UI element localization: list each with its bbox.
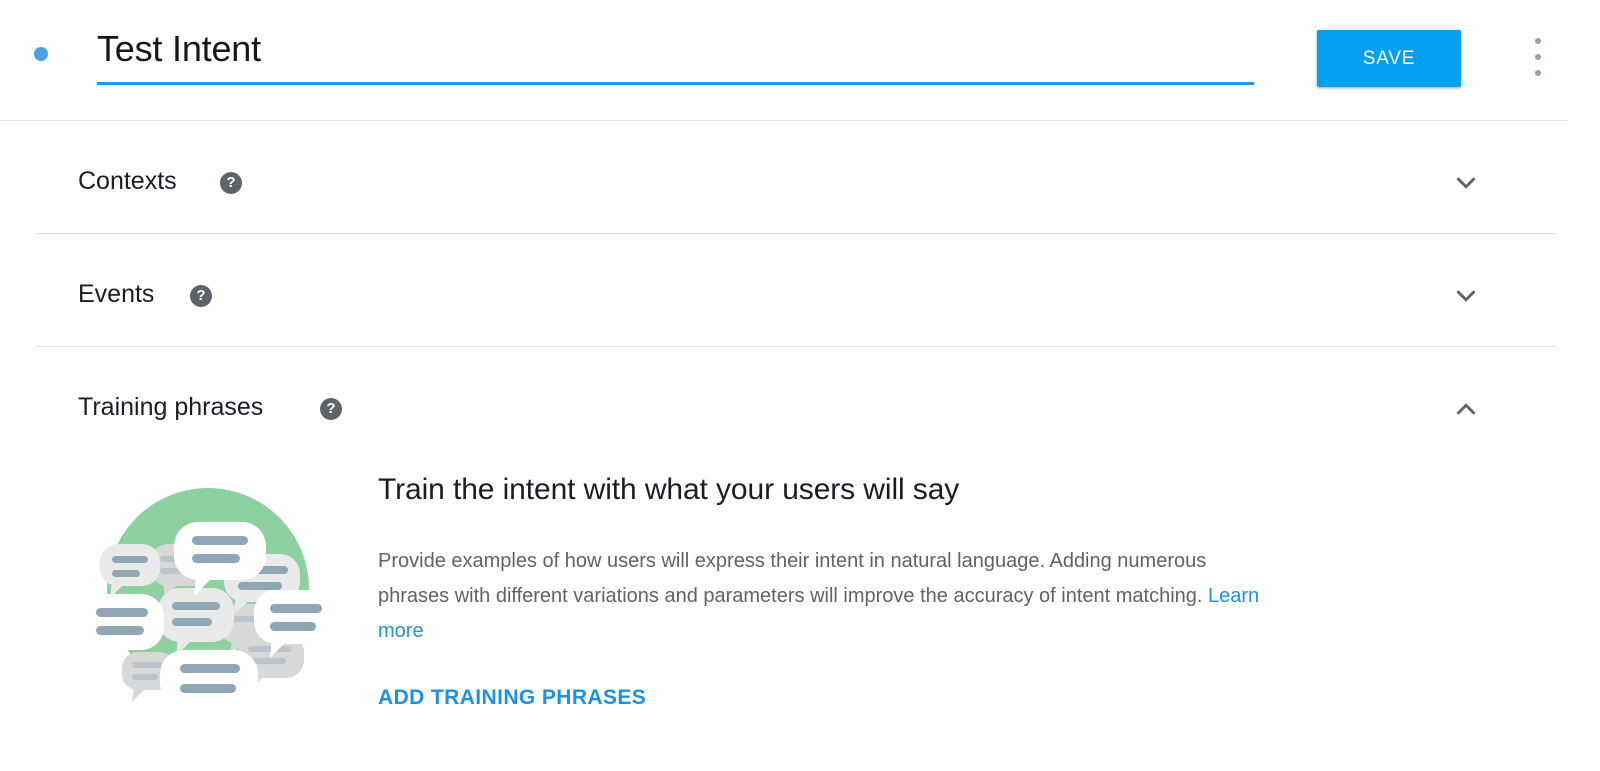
intent-editor-page: SAVE Contexts ? Events ? <box>0 0 1600 771</box>
section-training-phrases: Training phrases ? <box>0 347 1556 460</box>
section-header-training-phrases[interactable]: Training phrases ? <box>0 347 1556 460</box>
empty-state-body-text: Provide examples of how users will expre… <box>378 550 1208 607</box>
help-icon-contexts[interactable]: ? <box>220 172 242 194</box>
section-title-contexts: Contexts <box>78 167 177 196</box>
dot-3 <box>1535 70 1541 76</box>
help-icon-training-phrases[interactable]: ? <box>320 398 342 420</box>
dot-2 <box>1535 54 1541 60</box>
chevron-down-icon-events[interactable] <box>1448 278 1484 314</box>
section-contexts: Contexts ? <box>0 121 1556 234</box>
save-button[interactable]: SAVE <box>1317 30 1461 87</box>
empty-state-body: Provide examples of how users will expre… <box>378 544 1268 649</box>
intent-name-input[interactable] <box>97 26 1254 72</box>
dot-1 <box>1535 38 1541 44</box>
help-icon-events[interactable]: ? <box>190 285 212 307</box>
intent-name-field-wrapper <box>97 26 1254 84</box>
speech-bubbles-illustration <box>72 464 344 714</box>
section-header-events[interactable]: Events ? <box>0 234 1556 347</box>
section-title-training-phrases: Training phrases <box>78 393 263 422</box>
intent-name-underline <box>97 82 1254 85</box>
more-options-icon[interactable] <box>1528 38 1548 76</box>
empty-state-heading: Train the intent with what your users wi… <box>378 473 959 507</box>
chevron-down-icon-contexts[interactable] <box>1448 165 1484 201</box>
intent-status-dot <box>34 47 48 61</box>
training-phrases-empty-state: Train the intent with what your users wi… <box>0 454 1556 771</box>
section-events: Events ? <box>0 234 1556 347</box>
section-header-contexts[interactable]: Contexts ? <box>0 121 1556 234</box>
add-training-phrases-button[interactable]: ADD TRAINING PHRASES <box>378 686 646 710</box>
page-header: SAVE <box>0 0 1600 121</box>
chevron-up-icon-training-phrases[interactable] <box>1448 391 1484 427</box>
section-title-events: Events <box>78 280 154 309</box>
